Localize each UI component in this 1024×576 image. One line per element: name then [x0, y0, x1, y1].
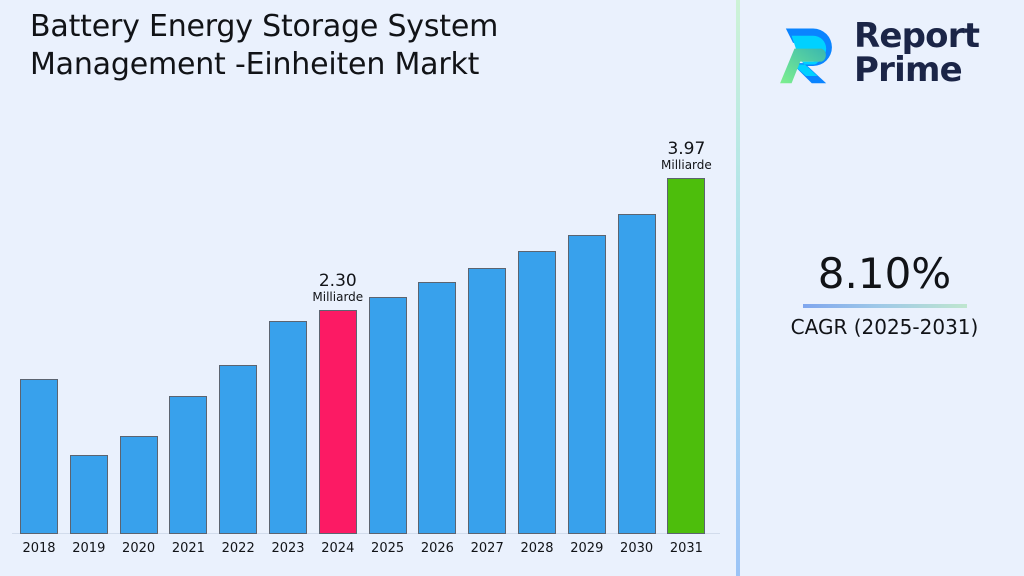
- bar-rect-2030[interactable]: [618, 214, 656, 534]
- x-axis-line: [12, 533, 720, 534]
- brand-wordmark: Report Prime: [854, 19, 979, 87]
- bar-rect-2021[interactable]: [169, 396, 207, 534]
- cagr-value: 8.10%: [745, 248, 1024, 300]
- cagr-panel: 8.10% CAGR (2025-2031): [745, 248, 1024, 340]
- bar-value-label-2031: 3.97Milliarde: [633, 141, 739, 172]
- bar-rect-2031[interactable]: [667, 178, 705, 534]
- bar-rect-2020[interactable]: [120, 436, 158, 534]
- brand-logo: Report Prime: [770, 10, 1010, 96]
- bar-rect-2028[interactable]: [518, 251, 556, 534]
- panel-divider: [736, 0, 740, 576]
- chart-infographic-canvas: Battery Energy Storage System Management…: [0, 0, 1024, 576]
- brand-word-prime: Prime: [854, 53, 979, 87]
- bar-rect-2022[interactable]: [219, 365, 257, 534]
- bar-rect-2018[interactable]: [20, 379, 58, 534]
- bar-unit-2031: Milliarde: [633, 159, 739, 172]
- bar-rect-2027[interactable]: [468, 268, 506, 534]
- bar-value-2031: 3.97: [633, 141, 739, 159]
- bar-value-2024: 2.30: [285, 273, 391, 291]
- bar-rect-2024[interactable]: [319, 310, 357, 534]
- bar-rect-2029[interactable]: [568, 235, 606, 534]
- cagr-caption: CAGR (2025-2031): [745, 314, 1024, 340]
- bar-rect-2025[interactable]: [369, 297, 407, 534]
- brand-word-report: Report: [854, 19, 979, 53]
- bar-rect-2019[interactable]: [70, 455, 108, 534]
- cagr-divider-rule: [803, 304, 967, 308]
- bar-chart: 2018201920202021202220232.30Milliarde202…: [0, 0, 736, 576]
- bar-rect-2026[interactable]: [418, 282, 456, 534]
- report-prime-r-logo-icon: [770, 17, 842, 89]
- x-tick-label-2031: 2031: [656, 541, 716, 556]
- bar-rect-2023[interactable]: [269, 321, 307, 534]
